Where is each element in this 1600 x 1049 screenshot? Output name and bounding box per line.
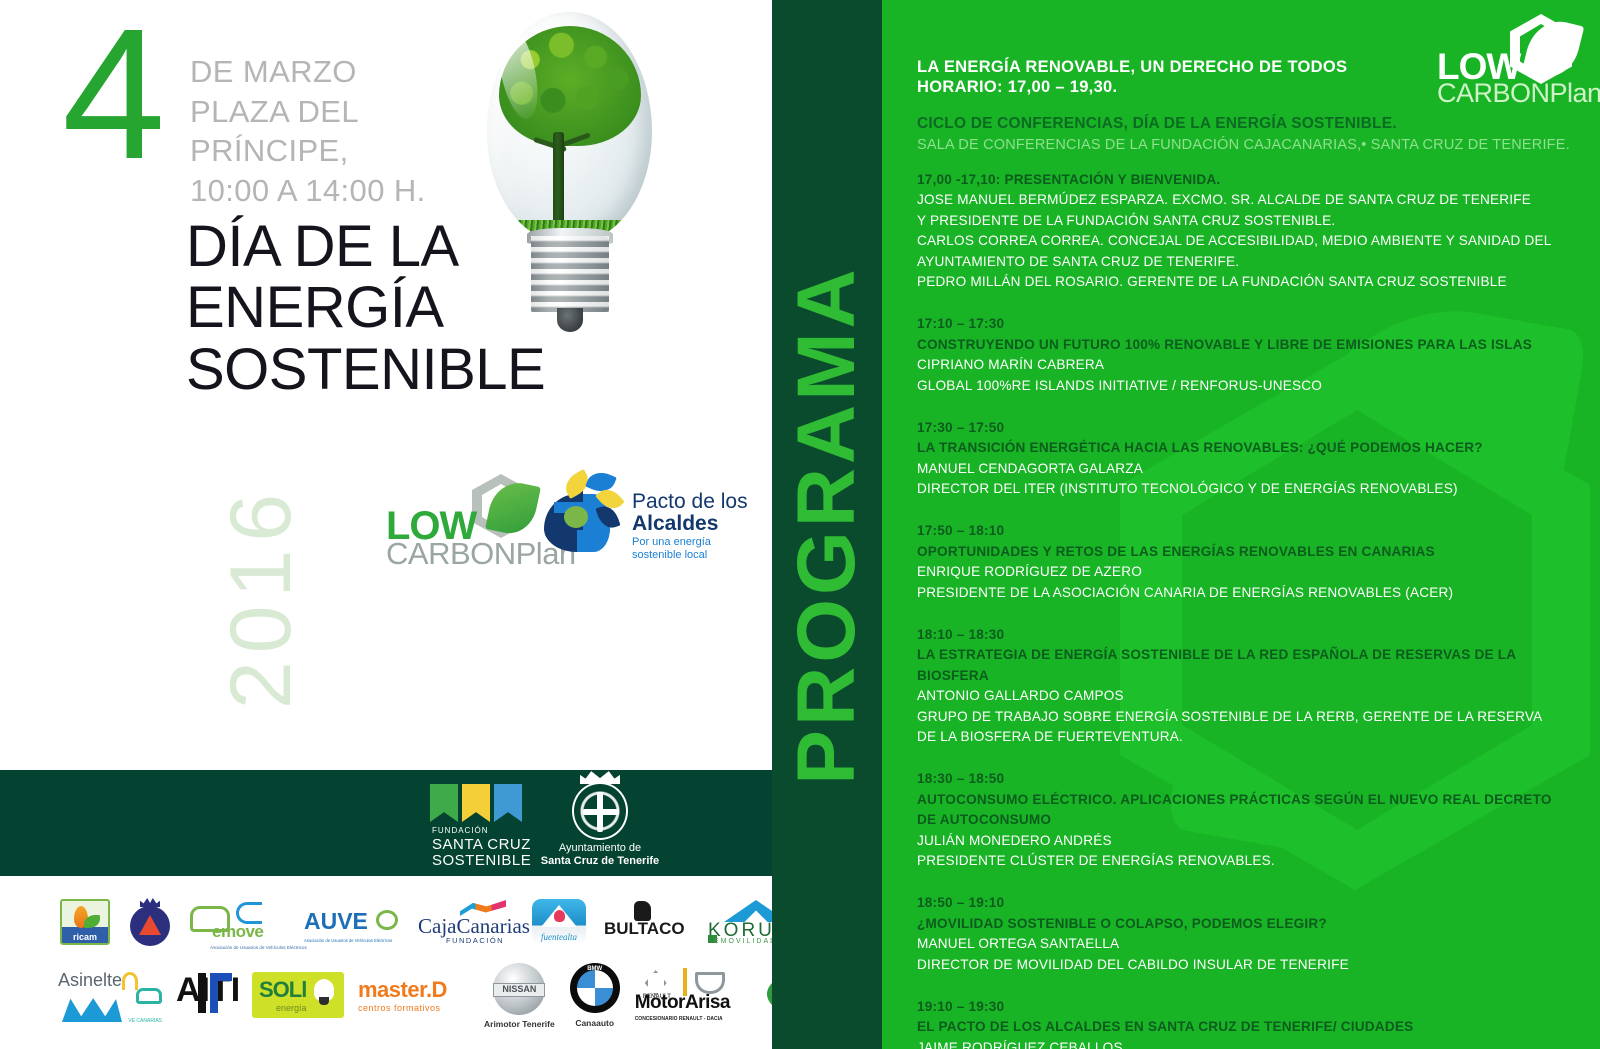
program-block: 17:10 – 17:30 CONSTRUYENDO UN FUTURO 100… (917, 314, 1579, 396)
date-line-3: PRÍNCIPE, (190, 131, 426, 171)
flag-yellow-icon (462, 784, 490, 822)
date-line-4: 10:00 A 14:00 H. (190, 171, 426, 211)
snail-icon (376, 910, 398, 930)
programa-vertical-band: PROGRAMA (772, 0, 882, 1049)
sponsor-bmw-canaauto: BMW Canaauto (569, 962, 621, 1028)
three-flags-icon (430, 784, 526, 824)
bultaco-logo-icon: BULTACO (604, 901, 690, 943)
program-title: LA ESTRATEGIA DE ENERGÍA SOSTENIBLE DE L… (917, 645, 1579, 686)
pacto-mark-icon (540, 472, 626, 552)
right-header-line-1: LA ENERGÍA RENOVABLE, UN DERECHO DE TODO… (917, 58, 1347, 77)
program-time: 17,00 -17,10: PRESENTACIÓN Y BIENVENIDA. (917, 170, 1579, 190)
date-line-2: PLAZA DEL (190, 92, 426, 132)
program-detail: DIRECTOR DEL ITER (INSTITUTO TECNOLÓGICO… (917, 479, 1579, 499)
program-time: 19:10 – 19:30 (917, 997, 1579, 1017)
cajacanarias-logo-icon: CajaCanarias FUNDACIÓN (418, 900, 514, 944)
program-time: 17:50 – 18:10 (917, 521, 1579, 541)
program-title: AUTOCONSUMO ELÉCTRICO. APLICACIONES PRÁC… (917, 790, 1579, 810)
bmw-logo-icon: BMW (569, 962, 621, 1016)
pacto-line2: Alcaldes (632, 512, 718, 536)
sponsor-bultaco: BULTACO (604, 901, 690, 943)
bulb-icon (314, 979, 334, 1001)
auve-logo-icon: AUVE Asociación de Usuarios de Vehículos… (304, 902, 400, 942)
program-title: DE AUTOCONSUMO (917, 810, 1579, 830)
ricam-logo-icon: ricam (60, 899, 110, 945)
sponsor-motorarisa: RENAULT MotorArisa CONCESIONARIO RENAULT… (635, 968, 751, 1022)
flag-blue-icon (494, 784, 522, 822)
m-mark-icon (62, 996, 122, 1022)
lightbulb-tree-illustration (469, 4, 669, 364)
program-block: 19:10 – 19:30 EL PACTO DE LOS ALCALDES E… (917, 997, 1579, 1049)
program-title: LA TRANSICIÓN ENERGÉTICA HACIA LAS RENOV… (917, 438, 1579, 458)
dacia-shield-icon (695, 972, 725, 994)
proteccion-civil-logo-icon (128, 898, 172, 946)
bulb-tip-icon (557, 308, 583, 332)
fuentealta-logo-icon: fuentealta (532, 899, 586, 945)
sponsor-asinelte: Asinelte VE CANARIAS (58, 968, 162, 1022)
year-watermark: 2016 (112, 447, 412, 747)
flag-green-icon (430, 784, 458, 822)
event-date-location: DE MARZO PLAZA DEL PRÍNCIPE, 10:00 A 14:… (190, 52, 426, 211)
sponsor-emove: emove Asociación de Usuarios de Vehículo… (190, 902, 286, 942)
program-detail: JAIME RODRÍGUEZ CEBALLOS (917, 1038, 1579, 1049)
program-detail: JULIÁN MONEDERO ANDRÉS (917, 831, 1579, 851)
program-detail: PRESIDENTE DE LA ASOCIACIÓN CANARIA DE E… (917, 583, 1579, 603)
fundacion-line1: SANTA CRUZ (432, 836, 531, 853)
program-detail: MANUEL ORTEGA SANTAELLA (917, 934, 1579, 954)
program-time: 18:10 – 18:30 (917, 625, 1579, 645)
pacto-line1: Pacto de los (632, 490, 748, 514)
program-detail: ANTONIO GALLARDO CAMPOS (917, 686, 1579, 706)
program-title: CONSTRUYENDO UN FUTURO 100% RENOVABLE Y … (917, 335, 1579, 355)
aiti-logo-icon: AITI (176, 969, 238, 1021)
program-detail: GLOBAL 100%RE ISLANDS INITIATIVE / RENFO… (917, 376, 1579, 396)
program-block: 17:30 – 17:50 LA TRANSICIÓN ENERGÉTICA H… (917, 418, 1579, 500)
sponsor-nissan: NISSAN Arimotor Tenerife (484, 961, 555, 1029)
car-icon (136, 988, 162, 1004)
bulb-screw-base-icon (531, 236, 609, 312)
tree-canopy-icon (499, 26, 641, 146)
right-header-line-3: CICLO DE CONFERENCIAS, DÍA DE LA ENERGÍA… (917, 115, 1397, 133)
program-detail: DE LA BIOSFERA DE FUERTEVENTURA. (917, 727, 1579, 747)
master-d-logo-icon: master.D centros formativos (358, 973, 470, 1017)
program-detail: MANUEL CENDAGORTA GALARZA (917, 459, 1579, 479)
sponsor-proteccion-civil (128, 898, 172, 946)
program-detail: DIRECTOR DE MOVILIDAD DEL CABILDO INSULA… (917, 955, 1579, 975)
pacto-de-los-alcaldes-logo: Pacto de los Alcaldes Por una energía so… (540, 470, 730, 560)
sponsor-master-d: master.D centros formativos (358, 973, 470, 1017)
motorarisa-logo-icon: RENAULT MotorArisa CONCESIONARIO RENAULT… (635, 968, 751, 1022)
program-block: 18:30 – 18:50 AUTOCONSUMO ELÉCTRICO. APL… (917, 769, 1579, 871)
fundacion-line2: SOSTENIBLE (432, 852, 531, 869)
ayuntamiento-line1: Ayuntamiento de (540, 842, 660, 854)
programa-label: PROGRAMA (780, 265, 874, 784)
right-header-line-2: HORARIO: 17,00 – 19,30. (917, 78, 1117, 97)
bulb-glass-icon (487, 12, 652, 242)
program-list: 17,00 -17,10: PRESENTACIÓN Y BIENVENIDA.… (917, 170, 1579, 1049)
pacto-tagline: Por una energía sostenible local (632, 536, 711, 561)
lowcarbonplan-logo: LOW CARBONPlan (386, 476, 536, 558)
program-title: OPORTUNIDADES Y RETOS DE LAS ENERGÍAS RE… (917, 542, 1579, 562)
right-header-line-4: SALA DE CONFERENCIAS DE LA FUNDACIÓN CAJ… (917, 137, 1570, 153)
program-detail: GRUPO DE TRABAJO SOBRE ENERGÍA SOSTENIBL… (917, 707, 1579, 727)
ayuntamiento-logo: Ayuntamiento de Santa Cruz de Tenerife (540, 782, 660, 870)
program-block: 18:50 – 19:10 ¿MOVILIDAD SOSTENIBLE O CO… (917, 893, 1579, 975)
institutional-band: FUNDACIÓN SANTA CRUZ SOSTENIBLE Ayuntami… (0, 770, 772, 876)
soll-energia-logo-icon: SOLl energía (252, 972, 344, 1018)
drop-icon (554, 910, 565, 922)
sponsor-row-1: ricam emove Asociación de Usuar (0, 890, 772, 954)
program-detail: JOSE MANUEL BERMÚDEZ ESPARZA. EXCMO. SR.… (917, 190, 1579, 210)
asinelte-logo-icon: Asinelte VE CANARIAS (58, 968, 162, 1022)
fundacion-label: FUNDACIÓN (432, 826, 489, 835)
lowcarbonplan-logo-right: LOW CARBONPlan (1433, 14, 1578, 110)
program-block: 17,00 -17,10: PRESENTACIÓN Y BIENVENIDA.… (917, 170, 1579, 292)
program-block: 18:10 – 18:30 LA ESTRATEGIA DE ENERGÍA S… (917, 625, 1579, 747)
program-detail: Y PRESIDENTE DE LA FUNDACIÓN SANTA CRUZ … (917, 211, 1579, 231)
sponsor-soll-energia: SOLl energía (252, 972, 344, 1018)
date-line-1: DE MARZO (190, 52, 426, 92)
bar-icon (210, 973, 218, 1013)
sponsor-ricam: ricam (60, 899, 110, 945)
program-time: 18:30 – 18:50 (917, 769, 1579, 789)
roundel-icon (577, 970, 613, 1006)
poster-root: 4 DE MARZO PLAZA DEL PRÍNCIPE, 10:00 A 1… (0, 0, 1600, 1049)
program-time: 17:30 – 17:50 (917, 418, 1579, 438)
program-detail: AYUNTAMIENTO DE SANTA CRUZ DE TENERIFE. (917, 252, 1579, 272)
thumb-icon (634, 901, 651, 921)
bar-icon (198, 973, 206, 1013)
program-detail: PEDRO MILLÁN DEL ROSARIO. GERENTE DE LA … (917, 272, 1579, 292)
right-panel: LOW CARBONPlan LA ENERGÍA RENOVABLE, UN … (882, 0, 1600, 1049)
program-block: 17:50 – 18:10 OPORTUNIDADES Y RETOS DE L… (917, 521, 1579, 603)
day-number: 4 (62, 22, 159, 167)
socket-icon (122, 972, 138, 990)
program-detail: ENRIQUE RODRÍGUEZ DE AZERO (917, 562, 1579, 582)
program-title: EL PACTO DE LOS ALCALDES EN SANTA CRUZ D… (917, 1017, 1579, 1037)
tree-trunk-icon (553, 132, 564, 232)
sponsor-fuentealta: fuentealta (532, 899, 586, 945)
program-title: ¿MOVILIDAD SOSTENIBLE O COLAPSO, PODEMOS… (917, 914, 1579, 934)
fundacion-santa-cruz-sostenible-logo: FUNDACIÓN SANTA CRUZ SOSTENIBLE (424, 784, 534, 868)
crest-icon (572, 782, 628, 840)
sponsor-auve: AUVE Asociación de Usuarios de Vehículos… (304, 902, 400, 942)
program-time: 17:10 – 17:30 (917, 314, 1579, 334)
program-detail: CIPRIANO MARÍN CABRERA (917, 355, 1579, 375)
emove-logo-icon: emove Asociación de Usuarios de Vehículo… (190, 902, 286, 942)
sponsor-aiti: AITI (176, 969, 238, 1021)
plug-cable-icon (236, 902, 262, 924)
ayuntamiento-line2: Santa Cruz de Tenerife (540, 855, 660, 867)
nissan-logo-icon: NISSAN (490, 961, 548, 1017)
program-detail: PRESIDENTE CLÚSTER DE ENERGÍAS RENOVABLE… (917, 851, 1579, 871)
logo-carbonplan-text: CARBONPlan (1437, 78, 1600, 109)
left-panel: 4 DE MARZO PLAZA DEL PRÍNCIPE, 10:00 A 1… (0, 0, 772, 1049)
sponsor-cajacanarias: CajaCanarias FUNDACIÓN (418, 900, 514, 944)
sponsor-strip: ricam emove Asociación de Usuar (0, 876, 772, 1049)
sponsor-row-2: Asinelte VE CANARIAS AITI (0, 960, 772, 1030)
program-detail: CARLOS CORREA CORREA. CONCEJAL DE ACCESI… (917, 231, 1579, 251)
center-dot-icon (564, 506, 588, 528)
program-time: 18:50 – 19:10 (917, 893, 1579, 913)
